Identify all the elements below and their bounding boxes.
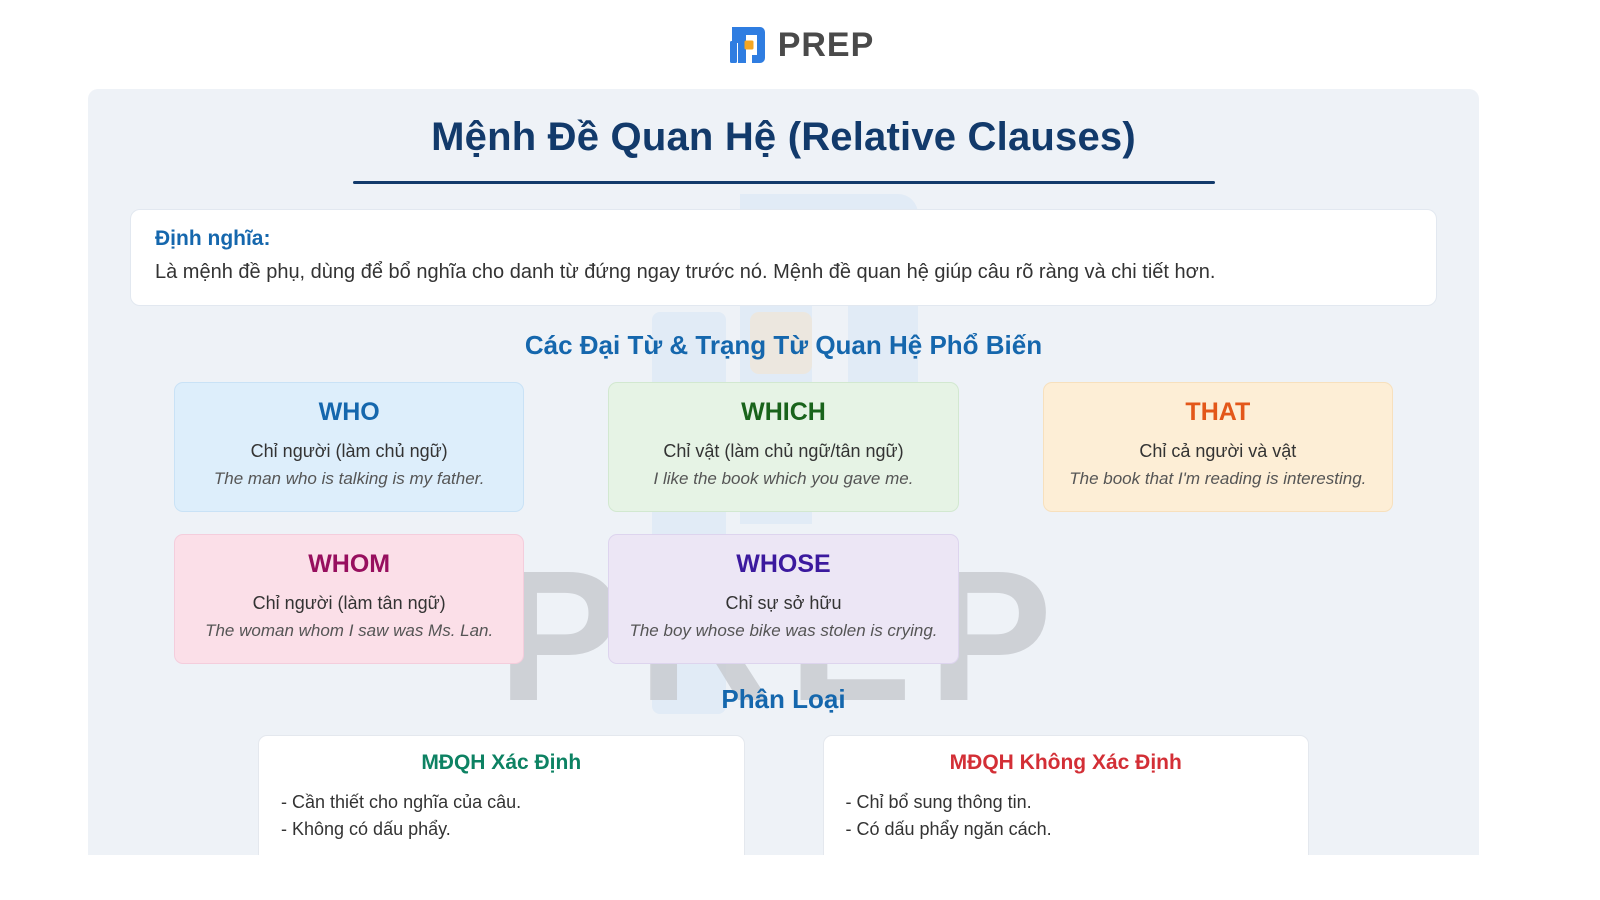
classification-point: - Cần thiết cho nghĩa của câu. [281, 789, 722, 816]
definition-box: Định nghĩa: Là mệnh đề phụ, dùng để bổ n… [130, 209, 1437, 306]
infographic-sheet: PREP Mệnh Đề Quan Hệ (Relative Clauses) … [88, 89, 1479, 855]
pronoun-term: WHO [189, 399, 509, 427]
pronoun-term: WHICH [623, 399, 943, 427]
classification-point: - Có dấu phẩy ngăn cách. [846, 816, 1287, 843]
classification-card-indefinite[interactable]: MĐQH Không Xác Định - Chỉ bổ sung thông … [823, 735, 1310, 855]
pronoun-description: Chỉ người (làm chủ ngữ) [189, 440, 509, 463]
pronoun-description: Chỉ vật (làm chủ ngữ/tân ngữ) [623, 440, 943, 463]
page-title: Mệnh Đề Quan Hệ (Relative Clauses) [130, 114, 1437, 160]
classification-title: MĐQH Xác Định [281, 751, 722, 775]
pronoun-term: THAT [1058, 399, 1378, 427]
prep-logo-lockup: PREP [726, 24, 875, 66]
definition-label: Định nghĩa: [155, 227, 1412, 251]
pronoun-description: Chỉ cả người và vật [1058, 440, 1378, 463]
classification-title: MĐQH Không Xác Định [846, 751, 1287, 775]
pronoun-description: Chỉ người (làm tân ngữ) [189, 592, 509, 615]
classification-point: - Không có dấu phẩy. [281, 816, 722, 843]
classification-section-heading: Phân Loại [130, 684, 1437, 715]
pronoun-term: WHOSE [623, 551, 943, 579]
classification-card-grid: MĐQH Xác Định - Cần thiết cho nghĩa của … [258, 735, 1309, 855]
pronoun-term: WHOM [189, 551, 509, 579]
title-divider [353, 181, 1215, 184]
pronoun-card-whose[interactable]: WHOSE Chỉ sự sở hữu The boy whose bike w… [608, 534, 958, 664]
pronoun-example: The man who is talking is my father. [189, 468, 509, 490]
pronoun-card-that[interactable]: THAT Chỉ cả người và vật The book that I… [1043, 382, 1393, 512]
pronoun-card-whom[interactable]: WHOM Chỉ người (làm tân ngữ) The woman w… [174, 534, 524, 664]
pronouns-section-heading: Các Đại Từ & Trạng Từ Quan Hệ Phổ Biến [130, 330, 1437, 361]
classification-card-definite[interactable]: MĐQH Xác Định - Cần thiết cho nghĩa của … [258, 735, 745, 855]
prep-wordmark: PREP [778, 28, 875, 62]
pronoun-example: The woman whom I saw was Ms. Lan. [189, 620, 509, 642]
pronoun-card-grid: WHO Chỉ người (làm chủ ngữ) The man who … [174, 382, 1393, 664]
prep-logo-icon [726, 24, 768, 66]
pronoun-example: The book that I'm reading is interesting… [1058, 468, 1378, 490]
definition-text: Là mệnh đề phụ, dùng để bổ nghĩa cho dan… [155, 259, 1412, 286]
pronoun-card-which[interactable]: WHICH Chỉ vật (làm chủ ngữ/tân ngữ) I li… [608, 382, 958, 512]
brand-header: PREP [0, 0, 1600, 89]
pronoun-card-who[interactable]: WHO Chỉ người (làm chủ ngữ) The man who … [174, 382, 524, 512]
classification-point: - Chỉ bổ sung thông tin. [846, 789, 1287, 816]
pronoun-description: Chỉ sự sở hữu [623, 592, 943, 615]
pronoun-example: The boy whose bike was stolen is crying. [623, 620, 943, 642]
pronoun-example: I like the book which you gave me. [623, 468, 943, 490]
